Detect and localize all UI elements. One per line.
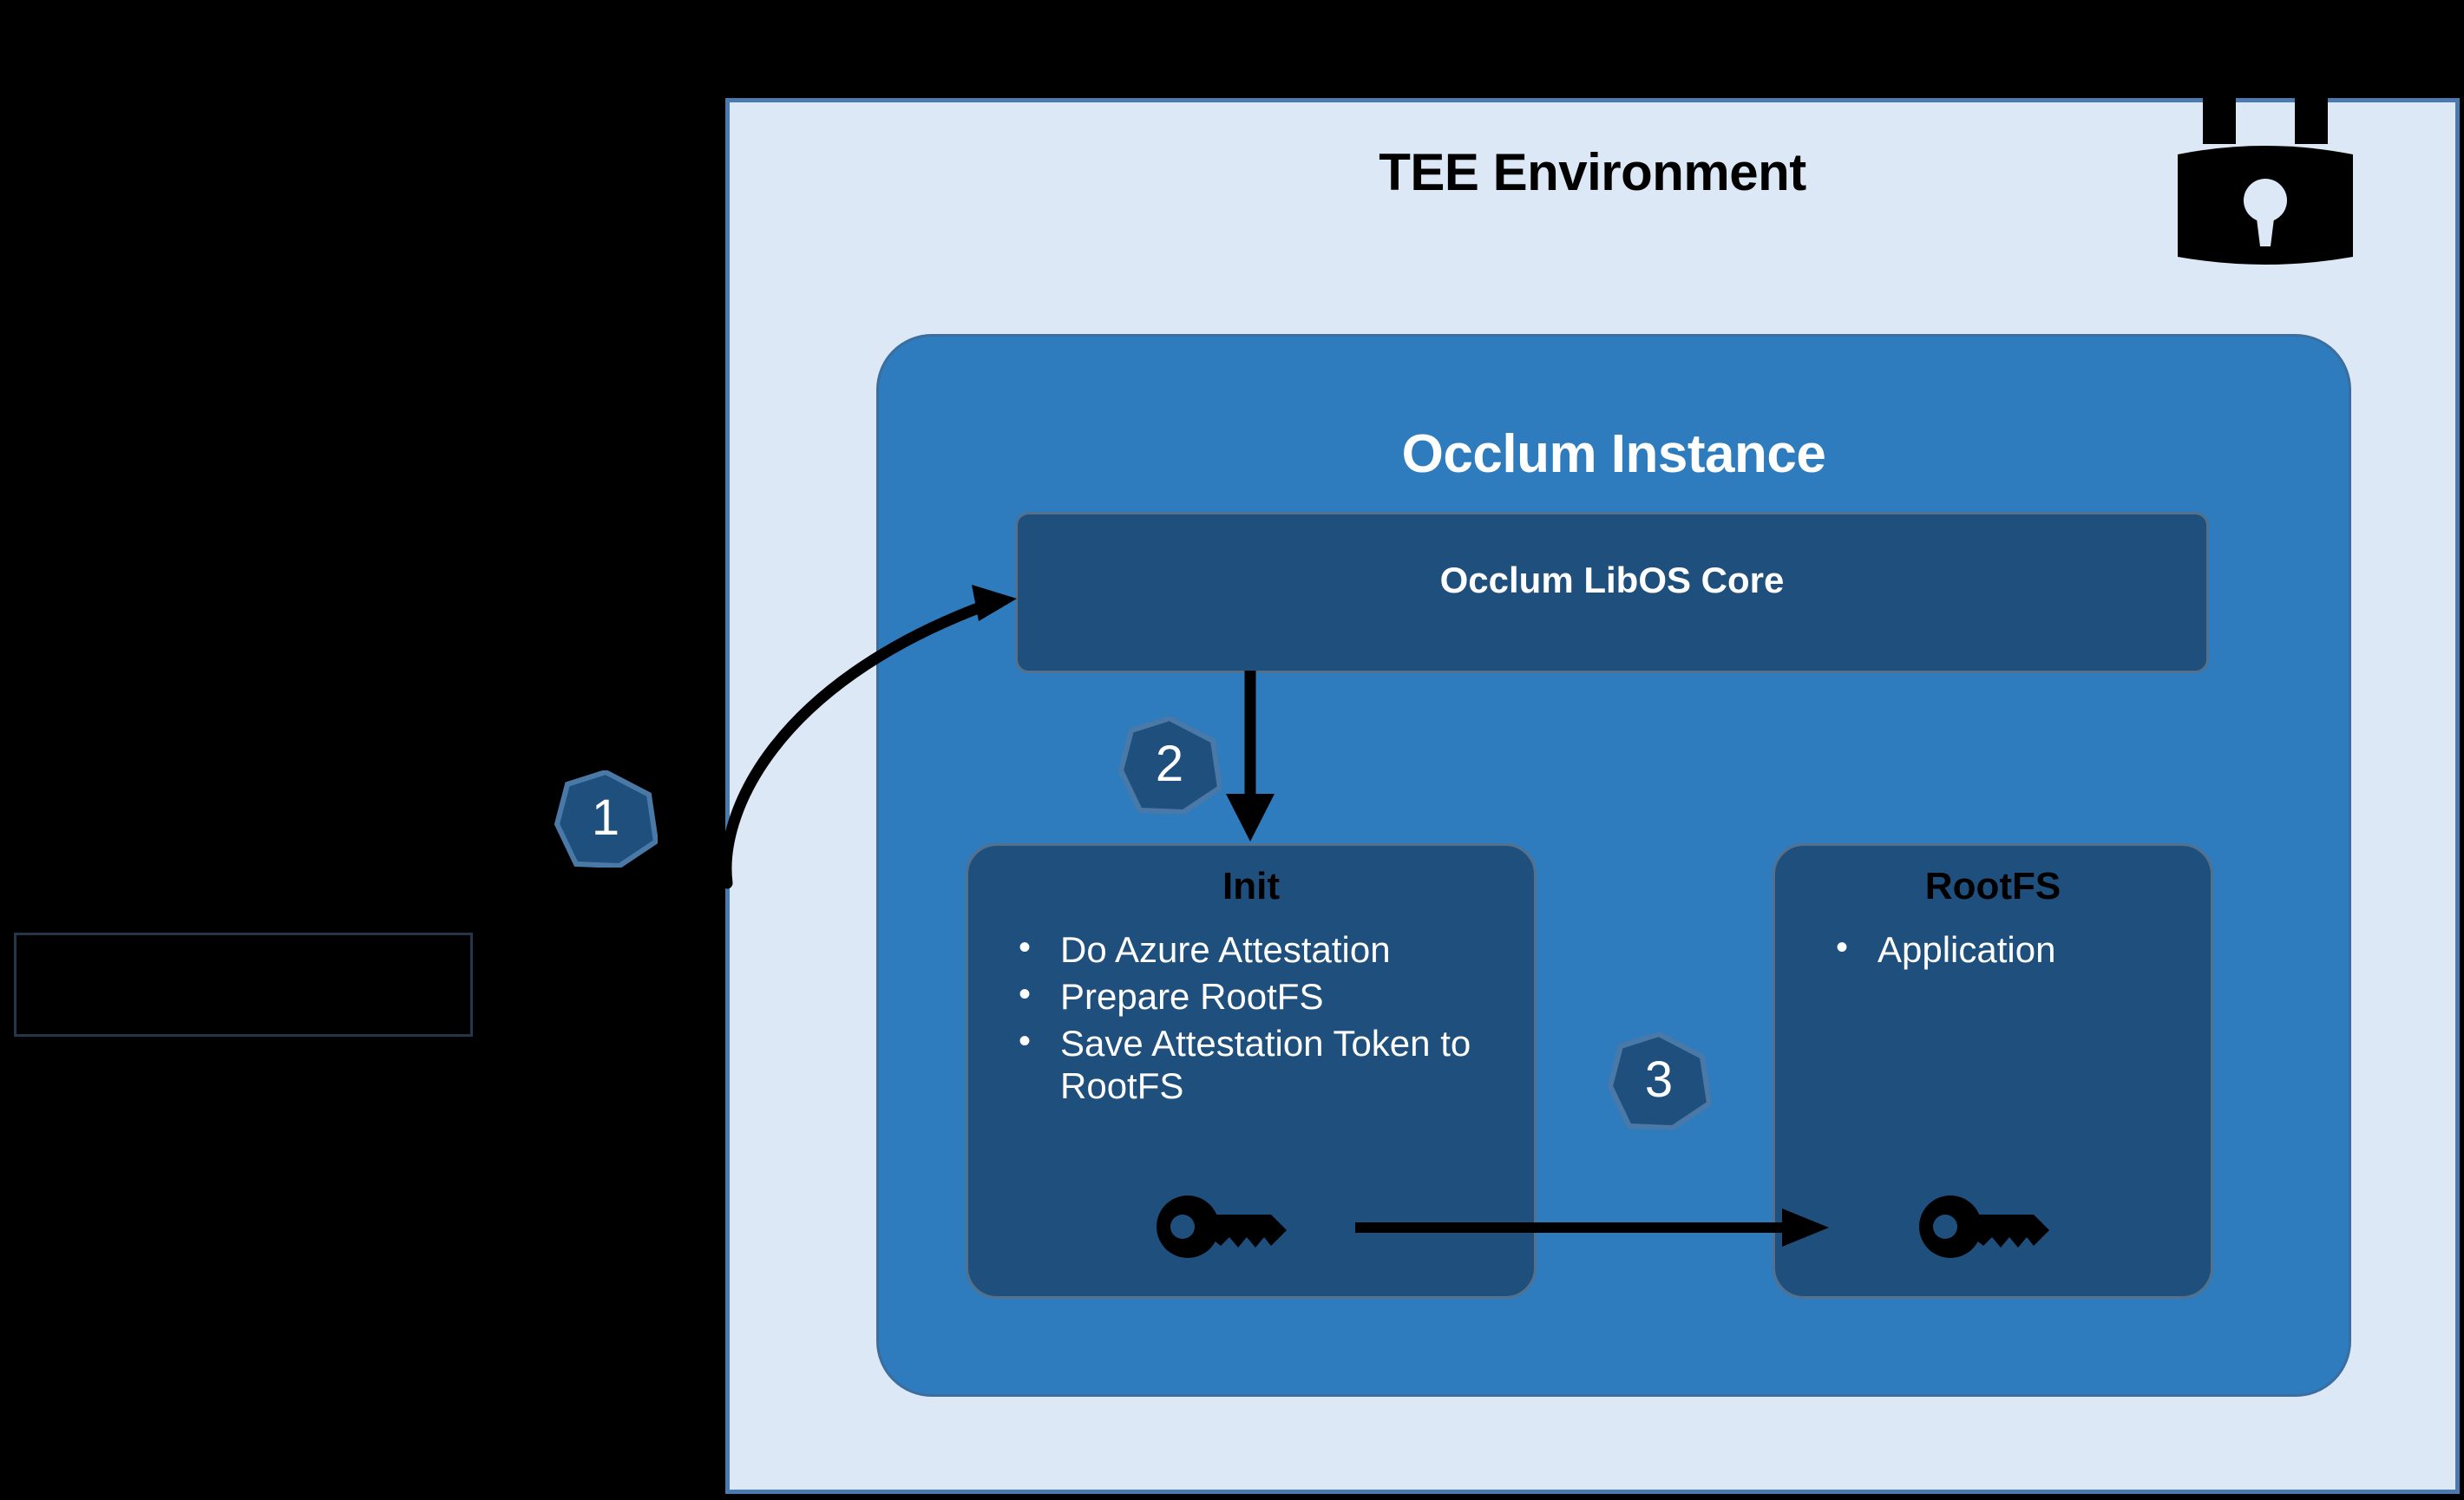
diagram-canvas: TEE Environment Occlum Instance Occlum L… <box>0 0 2464 1500</box>
step-badge-3: 3 <box>1607 1032 1711 1130</box>
occlum-libos-core-box: Occlum LibOS Core <box>1015 512 2209 673</box>
list-item: Application <box>1827 928 2193 971</box>
padlock-icon <box>2172 49 2358 265</box>
rootfs-heading: RootFS <box>1775 865 2211 908</box>
arrow-libos-to-init <box>1210 668 1297 846</box>
step-badge-number: 2 <box>1117 717 1222 814</box>
occlum-libos-core-label: Occlum LibOS Core <box>1018 560 2206 601</box>
step-badge-number: 1 <box>554 770 658 868</box>
init-heading: Init <box>968 865 1534 908</box>
list-item: Do Azure Attestation <box>1010 928 1513 971</box>
rootfs-bullet-list: Application <box>1827 928 2193 975</box>
step-badge-number: 3 <box>1607 1032 1711 1130</box>
occlum-instance-title: Occlum Instance <box>879 423 2349 485</box>
empty-outlined-box <box>14 933 473 1037</box>
key-icon <box>1157 1195 1299 1258</box>
arrow-init-key-to-rootfs-key <box>1353 1206 1839 1249</box>
list-item: Save Attestation Token to RootFS <box>1010 1022 1513 1107</box>
step-badge-2: 2 <box>1117 717 1222 814</box>
curved-arrow-to-libos <box>677 555 1041 885</box>
init-bullet-list: Do Azure Attestation Prepare RootFS Save… <box>1010 928 1513 1112</box>
list-item: Prepare RootFS <box>1010 975 1513 1018</box>
key-icon <box>1919 1195 2061 1258</box>
step-badge-1: 1 <box>554 770 658 868</box>
